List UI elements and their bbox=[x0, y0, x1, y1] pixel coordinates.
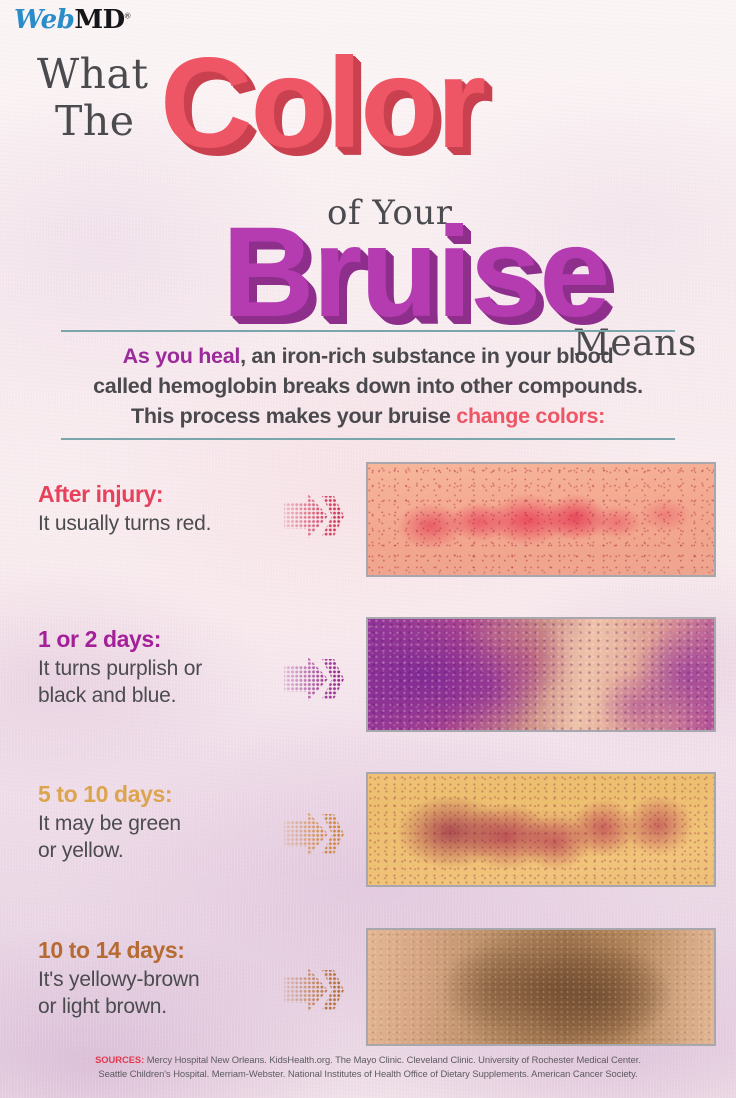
stage-text-block: 5 to 10 days: It may be green or yellow. bbox=[38, 780, 288, 864]
subtitle-rest-2: This process makes your bruise bbox=[131, 404, 456, 428]
stage-row-10-14-days: 10 to 14 days: It's yellowy-brown or lig… bbox=[0, 928, 736, 1046]
logo-web-text: Web bbox=[14, 5, 74, 35]
logo-trademark: ® bbox=[125, 11, 130, 20]
stage-heading: After injury: bbox=[38, 480, 288, 508]
stage-text-block: 10 to 14 days: It's yellowy-brown or lig… bbox=[38, 936, 288, 1020]
title-word-the: The bbox=[55, 101, 135, 142]
sources-text-1: Mercy Hospital New Orleans. KidsHealth.o… bbox=[144, 1054, 641, 1065]
stage-heading: 10 to 14 days: bbox=[38, 936, 288, 964]
bruise-photo-yellow bbox=[366, 772, 716, 887]
divider-bottom bbox=[61, 438, 675, 440]
subtitle-block: As you heal, an iron-rich substance in y… bbox=[0, 330, 736, 440]
stage-body-line-2: black and blue. bbox=[38, 682, 288, 709]
stage-body-line-1: It turns purplish or bbox=[38, 655, 288, 682]
title-word-what: What bbox=[37, 54, 148, 95]
sources-footer: SOURCES: Mercy Hospital New Orleans. Kid… bbox=[0, 1053, 736, 1081]
title-word-bruise: Bruise bbox=[222, 209, 608, 337]
skin-texture bbox=[368, 774, 714, 885]
infographic-page: WebMD® What The Color of Your Bruise Mea… bbox=[0, 0, 736, 1098]
bruise-photo-brown bbox=[366, 928, 716, 1046]
subtitle-rest-1: , an iron-rich substance in your blood bbox=[240, 344, 613, 368]
stage-body-line-1: It usually turns red. bbox=[38, 510, 288, 537]
stage-body-line-2: or yellow. bbox=[38, 837, 288, 864]
skin-texture bbox=[368, 619, 714, 730]
page-title: What The Color of Your Bruise Means bbox=[0, 44, 736, 334]
stage-row-after-injury: After injury: It usually turns red. bbox=[0, 462, 736, 580]
stage-body-line-1: It may be green bbox=[38, 810, 288, 837]
subtitle-emphasis-colors: change colors: bbox=[456, 404, 605, 428]
halftone-arrow-icon-red bbox=[282, 490, 344, 542]
stage-heading: 1 or 2 days: bbox=[38, 625, 288, 653]
stage-body-line-2: or light brown. bbox=[38, 993, 288, 1020]
logo-md-text: MD bbox=[74, 5, 124, 35]
subtitle-line-3: This process makes your bruise change co… bbox=[0, 401, 736, 431]
stage-text-block: 1 or 2 days: It turns purplish or black … bbox=[38, 625, 288, 709]
halftone-arrow-icon-purple bbox=[282, 653, 344, 705]
bruise-photo-red bbox=[366, 462, 716, 577]
stage-text-block: After injury: It usually turns red. bbox=[38, 480, 288, 537]
webmd-logo: WebMD® bbox=[14, 6, 130, 33]
subtitle-text: As you heal, an iron-rich substance in y… bbox=[0, 332, 736, 438]
halftone-arrow-icon-brown bbox=[282, 964, 344, 1016]
stage-row-5-10-days: 5 to 10 days: It may be green or yellow. bbox=[0, 772, 736, 890]
bruise-photo-purple bbox=[366, 617, 716, 732]
stage-row-1-2-days: 1 or 2 days: It turns purplish or black … bbox=[0, 617, 736, 735]
subtitle-line-2: called hemoglobin breaks down into other… bbox=[0, 371, 736, 401]
sources-label: SOURCES: bbox=[95, 1054, 144, 1065]
sources-line-1: SOURCES: Mercy Hospital New Orleans. Kid… bbox=[0, 1053, 736, 1067]
subtitle-emphasis-heal: As you heal bbox=[123, 344, 240, 368]
title-word-color: Color bbox=[160, 40, 484, 168]
halftone-arrow-icon-gold bbox=[282, 808, 344, 860]
sources-line-2: Seattle Children's Hospital. Merriam-Web… bbox=[0, 1067, 736, 1081]
stage-heading: 5 to 10 days: bbox=[38, 780, 288, 808]
skin-texture bbox=[368, 464, 714, 575]
subtitle-line-1: As you heal, an iron-rich substance in y… bbox=[0, 341, 736, 371]
skin-texture bbox=[368, 930, 714, 1044]
stage-body-line-1: It's yellowy-brown bbox=[38, 966, 288, 993]
